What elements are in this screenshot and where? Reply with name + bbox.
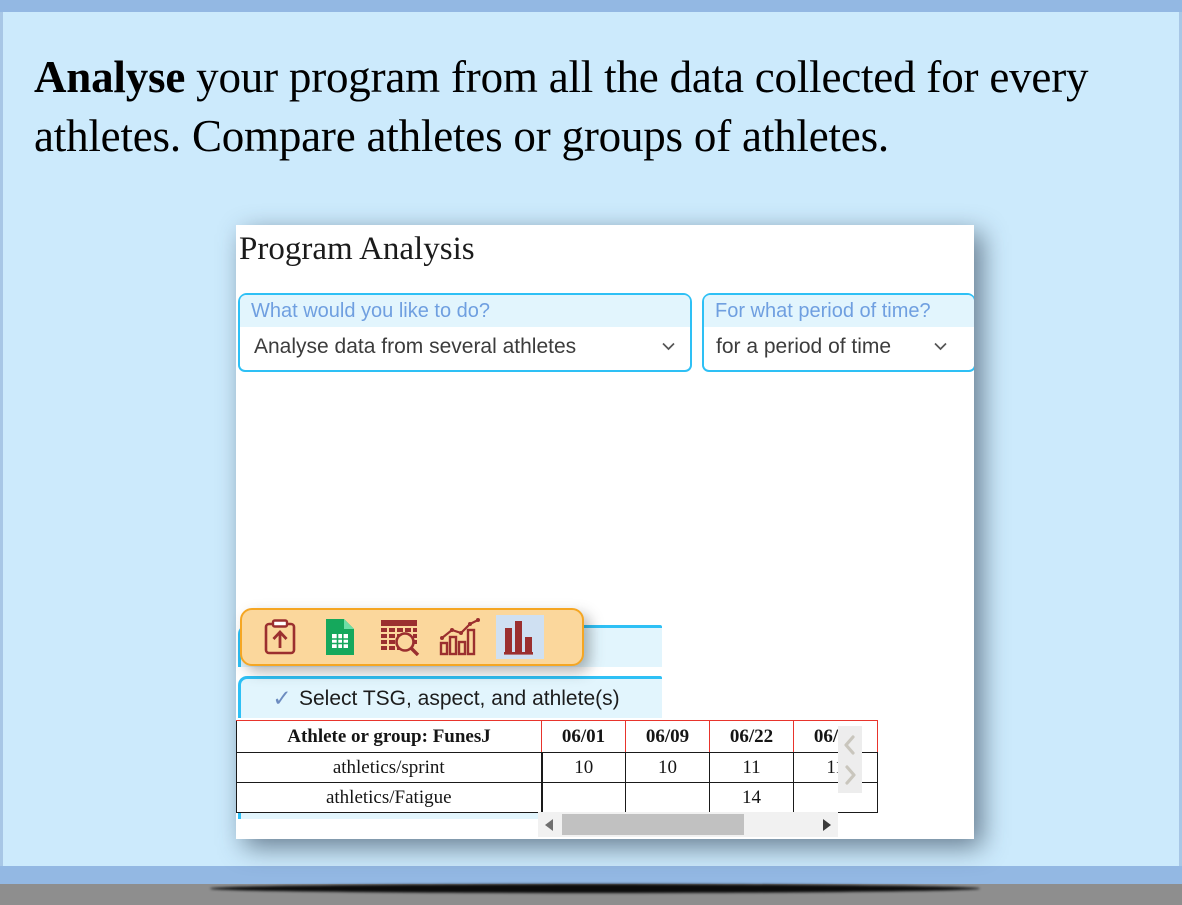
table-cell: 14 — [710, 783, 794, 813]
table-cell: 11 — [794, 753, 878, 783]
import-clipboard-icon[interactable] — [256, 615, 304, 659]
bar-chart-icon[interactable] — [496, 615, 544, 659]
table-cell-row-label: athletics/Fatigue — [237, 783, 542, 813]
check-icon: ✓ — [265, 687, 299, 710]
table-row[interactable]: athletics/sprint 10 10 11 11 — [237, 753, 878, 783]
table-header-row: Athlete or group: FunesJ 06/01 06/09 06/… — [237, 721, 878, 753]
table-search-icon[interactable] — [376, 615, 424, 659]
what-to-do-select[interactable]: Analyse data from several athletes — [240, 327, 690, 366]
what-to-do-value: Analyse data from several athletes — [254, 335, 576, 358]
page-title: Analyse your program from all the data c… — [34, 48, 1134, 167]
step-label: Select TSG, aspect, and athlete(s) — [299, 687, 620, 711]
view-mode-toolbar — [240, 608, 584, 666]
what-to-do-label: What would you like to do? — [240, 295, 690, 327]
period-of-time-field[interactable]: For what period of time? for a period of… — [702, 293, 974, 372]
chevron-down-icon[interactable] — [661, 339, 676, 354]
table-cell: 10 — [626, 753, 710, 783]
table-cell: 10 — [542, 753, 626, 783]
table-horizontal-scrollbar[interactable] — [538, 812, 838, 837]
chevron-right-icon[interactable] — [838, 756, 862, 793]
scrollbar-thumb[interactable] — [562, 814, 744, 835]
top-accent-band — [0, 0, 1182, 12]
panel-title: Program Analysis — [239, 231, 475, 268]
table-header-cell: 06/27 — [794, 721, 878, 753]
table-cell — [626, 783, 710, 813]
chevron-down-icon[interactable] — [933, 339, 948, 354]
table-header-cell: 06/09 — [626, 721, 710, 753]
data-table: Athlete or group: FunesJ 06/01 06/09 06/… — [236, 720, 878, 813]
what-to-do-field[interactable]: What would you like to do? Analyse data … — [238, 293, 692, 372]
table-row[interactable]: athletics/Fatigue 14 — [237, 783, 878, 813]
table-header-cell: 06/01 — [542, 721, 626, 753]
data-table-container: Athlete or group: FunesJ 06/01 06/09 06/… — [236, 720, 974, 813]
table-header-cell: Athlete or group: FunesJ — [237, 721, 542, 753]
headline-emphasis: Analyse — [34, 52, 185, 102]
slide-canvas: Analyse your program from all the data c… — [0, 0, 1182, 905]
triangle-right-icon[interactable] — [814, 819, 838, 831]
table-cell — [794, 783, 878, 813]
table-cell-row-label: athletics/sprint — [237, 753, 542, 783]
table-cell: 11 — [710, 753, 794, 783]
period-of-time-label: For what period of time? — [704, 295, 974, 327]
spreadsheet-icon[interactable] — [316, 615, 364, 659]
step-select-tsg-aspect-athletes[interactable]: ✓ Select TSG, aspect, and athlete(s) — [238, 676, 662, 718]
period-of-time-select[interactable]: for a period of time — [704, 327, 974, 366]
table-cell — [542, 783, 626, 813]
slide-drop-shadow — [210, 884, 980, 893]
trend-chart-icon[interactable] — [436, 615, 484, 659]
headline-rest: your program from all the data collected… — [34, 52, 1088, 161]
period-of-time-value: for a period of time — [716, 335, 891, 358]
table-header-cell: 06/22 — [710, 721, 794, 753]
scrollbar-track[interactable] — [562, 812, 814, 837]
triangle-left-icon[interactable] — [538, 819, 562, 831]
bottom-accent-band — [0, 866, 1182, 884]
